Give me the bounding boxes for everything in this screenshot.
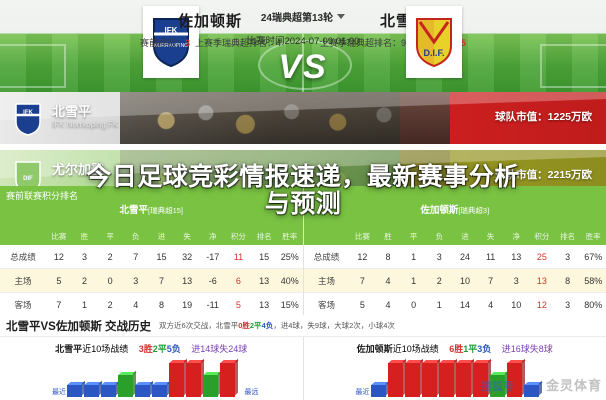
form-away-draws: 1平 [463, 344, 477, 354]
h2h-summary-prefix: 双方近6次交战，北雪平 [159, 321, 238, 330]
banner-home-crest-icon: IFK [14, 102, 42, 136]
cell-losses: 3 [426, 252, 452, 262]
cell-goal-diff: -11 [200, 300, 226, 310]
row-label: 主场 [0, 275, 46, 287]
standings-home-league-tag: [瑞典超15] [148, 206, 183, 215]
away-pre-rank-label: 赛前排名： [140, 38, 185, 48]
col-goals-against: 失 [478, 231, 504, 242]
col-draws: 平 [97, 231, 123, 242]
cell-goal-diff: 3 [503, 276, 529, 286]
form-bar-face [524, 385, 539, 397]
form-bar [101, 385, 116, 397]
form-bar-face [439, 363, 454, 397]
standings-table-away: 佐加顿斯[瑞典超3] 比赛 胜 平 负 进 失 净 积分 排名 胜率 总成绩 1… [303, 186, 606, 315]
form-away-record: 6胜1平3负 [449, 344, 491, 354]
standings-away-column-head: 比赛 胜 平 负 进 失 净 积分 排名 胜率 [304, 228, 606, 245]
row-label: 主场 [304, 275, 350, 287]
standings-section: 赛前联赛积分排名 北雪平[瑞典超15] 比赛 胜 平 负 进 失 净 积分 排名… [0, 186, 606, 315]
cell-points: 6 [226, 276, 252, 286]
form-bar [524, 385, 539, 397]
cell-winrate: 80% [580, 300, 606, 310]
col-goals-for: 进 [452, 231, 478, 242]
svg-text:D.I.F.: D.I.F. [423, 48, 444, 58]
cell-losses: 1 [426, 300, 452, 310]
col-losses: 负 [426, 231, 452, 242]
cell-goals-for: 7 [149, 276, 175, 286]
form-bar [84, 385, 99, 397]
cell-draws: 1 [401, 276, 427, 286]
banner-home-name: 北雪平 [52, 101, 91, 120]
cell-wins: 3 [72, 252, 98, 262]
form-bar [67, 385, 82, 397]
table-row: 主场 7 4 1 2 10 7 3 13 8 58% [304, 269, 606, 293]
cell-wins: 1 [72, 300, 98, 310]
standings-away-league-tag: [瑞典超3] [458, 206, 489, 215]
cell-goal-diff: -17 [200, 252, 226, 262]
form-home-losses: 5负 [167, 344, 181, 354]
cell-points: 12 [529, 300, 555, 310]
col-goal-diff: 净 [200, 231, 226, 242]
h2h-summary-suffix: ，进4球，失9球，大球2次，小球4次 [273, 321, 395, 330]
form-home-bars [0, 357, 303, 397]
cell-matches: 5 [350, 300, 376, 310]
row-label: 客场 [304, 299, 350, 311]
cell-goals-for: 15 [149, 252, 175, 262]
svg-text:IFK: IFK [23, 110, 33, 116]
cell-wins: 8 [375, 252, 401, 262]
form-bar-face [152, 385, 167, 397]
cell-goal-diff: 13 [503, 252, 529, 262]
cell-goals-for: 14 [452, 300, 478, 310]
col-goals-against: 失 [174, 231, 200, 242]
col-winrate: 胜率 [580, 231, 606, 242]
away-team-name: 佐加顿斯 [178, 10, 242, 31]
form-bar-side [539, 381, 542, 396]
form-bar-face [388, 363, 403, 397]
standings-away-team: 佐加顿斯[瑞典超3] [304, 202, 606, 216]
col-wins: 胜 [72, 231, 98, 242]
svg-text:DIF: DIF [23, 176, 33, 182]
banner-away-name: 尤尔加登 [52, 159, 104, 178]
cell-goals-against: 7 [478, 276, 504, 286]
standings-table-home: 赛前联赛积分排名 北雪平[瑞典超15] 比赛 胜 平 负 进 失 净 积分 排名… [0, 186, 303, 315]
cell-losses: 3 [123, 276, 149, 286]
h2h-draws: 2平 [250, 321, 262, 330]
col-losses: 负 [123, 231, 149, 242]
vs-label: VS [0, 48, 606, 87]
form-home-record: 3胜2平5负 [139, 344, 181, 354]
form-home-goals: 进14球失24球 [191, 344, 247, 354]
watermark: 金灵体育 [546, 375, 602, 394]
cell-matches: 7 [46, 300, 72, 310]
standings-away-header: 佐加顿斯[瑞典超3] [304, 186, 606, 228]
form-bar-face [118, 375, 133, 397]
cell-draws: 2 [97, 252, 123, 262]
round-selector[interactable]: 24瑞典超第13轮 [261, 9, 345, 24]
table-row: 总成绩 12 8 1 3 24 11 13 25 3 67% [304, 245, 606, 269]
form-home-draws: 2平 [153, 344, 167, 354]
away-pre-rank-value: 3 [185, 38, 190, 48]
col-points: 积分 [226, 231, 252, 242]
cell-rank: 3 [555, 252, 581, 262]
cell-winrate: 67% [580, 252, 606, 262]
cell-points: 11 [226, 252, 252, 262]
form-bar [135, 385, 150, 397]
form-bar-face [67, 385, 82, 397]
form-bar [118, 375, 133, 397]
cell-goals-against: 19 [174, 300, 200, 310]
form-bar [220, 363, 235, 397]
form-bar-face [422, 363, 437, 397]
form-bar [152, 385, 167, 397]
cell-losses: 2 [426, 276, 452, 286]
form-bar-face [371, 385, 386, 397]
cell-goals-against: 32 [174, 252, 200, 262]
cell-goals-against: 13 [174, 276, 200, 286]
form-away-team: 佐加顿斯 [357, 344, 393, 354]
form-bar [456, 363, 471, 397]
standings-home-team: 北雪平[瑞典超15] [0, 202, 303, 216]
team-banner-home[interactable]: IFK 北雪平 IFK Norrkoping FK 球队市值：1225万欧 [0, 92, 606, 144]
col-points: 积分 [529, 231, 555, 242]
form-bar-face [186, 363, 201, 397]
cell-rank: 3 [555, 300, 581, 310]
form-away-wins: 6胜 [449, 344, 463, 354]
cell-points: 13 [529, 276, 555, 286]
cell-rank: 8 [555, 276, 581, 286]
col-rank: 排名 [251, 231, 277, 242]
form-bar-face [169, 363, 184, 397]
cell-goal-diff: 10 [503, 300, 529, 310]
banner-home-market-value: 球队市值：1225万欧 [495, 109, 592, 124]
form-bar-face [135, 385, 150, 397]
cell-draws: 0 [401, 300, 427, 310]
row-label: 总成绩 [0, 251, 46, 263]
form-chart-away: 佐加顿斯近10场战绩 6胜1平3负 进16球失8球 最近 搜狐号 金灵体育 [303, 337, 606, 400]
away-prev-rank: 上赛季瑞典超排名：4 [195, 38, 281, 48]
standings-home-column-head: 比赛 胜 平 负 进 失 净 积分 排名 胜率 [0, 228, 303, 245]
form-bar-face [84, 385, 99, 397]
cell-goal-diff: -6 [200, 276, 226, 286]
cell-goals-against: 11 [478, 252, 504, 262]
cell-losses: 7 [123, 252, 149, 262]
banner-home-english: IFK Norrkoping FK [52, 120, 118, 129]
dif-shield-icon: D.I.F. [414, 16, 454, 68]
table-row: 总成绩 12 3 2 7 15 32 -17 11 15 25% [0, 245, 303, 269]
standings-home-team-name: 北雪平 [119, 205, 148, 216]
form-away-goals: 进16球失8球 [502, 344, 553, 354]
col-winrate: 胜率 [277, 231, 303, 242]
table-row: 客场 5 4 0 1 14 4 10 12 3 80% [304, 293, 606, 317]
match-time: 比赛时间2024-07-09 01:00 [0, 33, 606, 47]
col-matches: 比赛 [350, 231, 376, 242]
away-team-crest: D.I.F. [406, 6, 462, 78]
form-bar [169, 363, 184, 397]
h2h-summary: 双方近6次交战，北雪平0胜2平4负，进4球，失9球，大球2次，小球4次 [159, 320, 395, 331]
cell-matches: 5 [46, 276, 72, 286]
col-rank: 排名 [555, 231, 581, 242]
form-bar [422, 363, 437, 397]
form-bar-face [405, 363, 420, 397]
col-matches: 比赛 [46, 231, 72, 242]
standings-away-team-name: 佐加顿斯 [420, 205, 458, 216]
match-preview-page: 北雪平 上赛季瑞典超排名：9 赛前排名：15 IFK NORRKOPING 24… [0, 0, 606, 400]
col-goal-diff: 净 [503, 231, 529, 242]
form-bar [186, 363, 201, 397]
cell-goals-for: 24 [452, 252, 478, 262]
head-to-head-bar: 北雪平VS佐加顿斯 交战历史 双方近6次交战，北雪平0胜2平4负，进4球，失9球… [0, 315, 606, 337]
table-row: 客场 7 1 2 4 8 19 -11 5 13 15% [0, 293, 303, 317]
form-chart-home: 北雪平近10场战绩 3胜2平5负 进14球失24球 最近 最远 [0, 337, 303, 400]
h2h-losses: 4负 [262, 321, 274, 330]
cell-matches: 12 [350, 252, 376, 262]
table-row: 主场 5 2 0 3 7 13 -6 6 13 40% [0, 269, 303, 293]
form-bar [371, 385, 386, 397]
form-bar-face [203, 375, 218, 397]
cell-points: 5 [226, 300, 252, 310]
away-team-ranks: 赛前排名：3 上赛季瑞典超排名：4 [140, 36, 281, 49]
standings-section-label: 赛前联赛积分排名 [6, 189, 78, 202]
h2h-title: 北雪平VS佐加顿斯 交战历史 [6, 318, 151, 334]
col-draws: 平 [401, 231, 427, 242]
cell-winrate: 15% [277, 300, 303, 310]
cell-draws: 1 [401, 252, 427, 262]
form-home-label: 近10场战绩 [82, 344, 128, 354]
banner-away-market-value: 球队市值：2215万欧 [495, 167, 592, 182]
cell-draws: 2 [97, 300, 123, 310]
recent-form-section: 北雪平近10场战绩 3胜2平5负 进14球失24球 最近 最远 佐加顿斯近10场… [0, 337, 606, 400]
cell-wins: 4 [375, 276, 401, 286]
standings-home-header: 赛前联赛积分排名 北雪平[瑞典超15] [0, 186, 303, 228]
col-wins: 胜 [375, 231, 401, 242]
cell-points: 25 [529, 252, 555, 262]
cell-rank: 13 [251, 300, 277, 310]
cell-goals-against: 4 [478, 300, 504, 310]
form-home-wins: 3胜 [139, 344, 153, 354]
cell-winrate: 25% [277, 252, 303, 262]
cell-goals-for: 8 [149, 300, 175, 310]
col-goals-for: 进 [149, 231, 175, 242]
form-away-label: 近10场战绩 [393, 344, 439, 354]
round-label: 24瑞典超第13轮 [261, 9, 333, 24]
cell-wins: 2 [72, 276, 98, 286]
form-bar-face [101, 385, 116, 397]
form-home-header: 北雪平近10场战绩 3胜2平5负 进14球失24球 [0, 337, 303, 355]
cell-wins: 4 [375, 300, 401, 310]
form-bar [203, 375, 218, 397]
form-bar-face [456, 363, 471, 397]
form-away-header: 佐加顿斯近10场战绩 6胜1平3负 进16球失8球 [304, 337, 606, 355]
chevron-down-icon[interactable] [337, 14, 345, 19]
cell-matches: 7 [350, 276, 376, 286]
cell-winrate: 58% [580, 276, 606, 286]
cell-goals-for: 10 [452, 276, 478, 286]
cell-rank: 15 [251, 252, 277, 262]
match-hero: 北雪平 上赛季瑞典超排名：9 赛前排名：15 IFK NORRKOPING 24… [0, 0, 606, 92]
form-bar [388, 363, 403, 397]
cell-rank: 13 [251, 276, 277, 286]
cell-losses: 4 [123, 300, 149, 310]
form-bar [439, 363, 454, 397]
cell-winrate: 40% [277, 276, 303, 286]
form-bar [405, 363, 420, 397]
row-label: 总成绩 [304, 251, 350, 263]
form-away-losses: 3负 [477, 344, 491, 354]
cell-draws: 0 [97, 276, 123, 286]
form-bar-side [235, 359, 238, 396]
row-label: 客场 [0, 299, 46, 311]
watermark-small: 搜狐号 [481, 378, 514, 394]
match-center-info: 24瑞典超第13轮 比赛时间2024-07-09 01:00 [0, 8, 606, 47]
h2h-wins: 0胜 [238, 321, 250, 330]
form-bar-face [220, 363, 235, 397]
cell-matches: 12 [46, 252, 72, 262]
form-home-team: 北雪平 [55, 344, 82, 354]
